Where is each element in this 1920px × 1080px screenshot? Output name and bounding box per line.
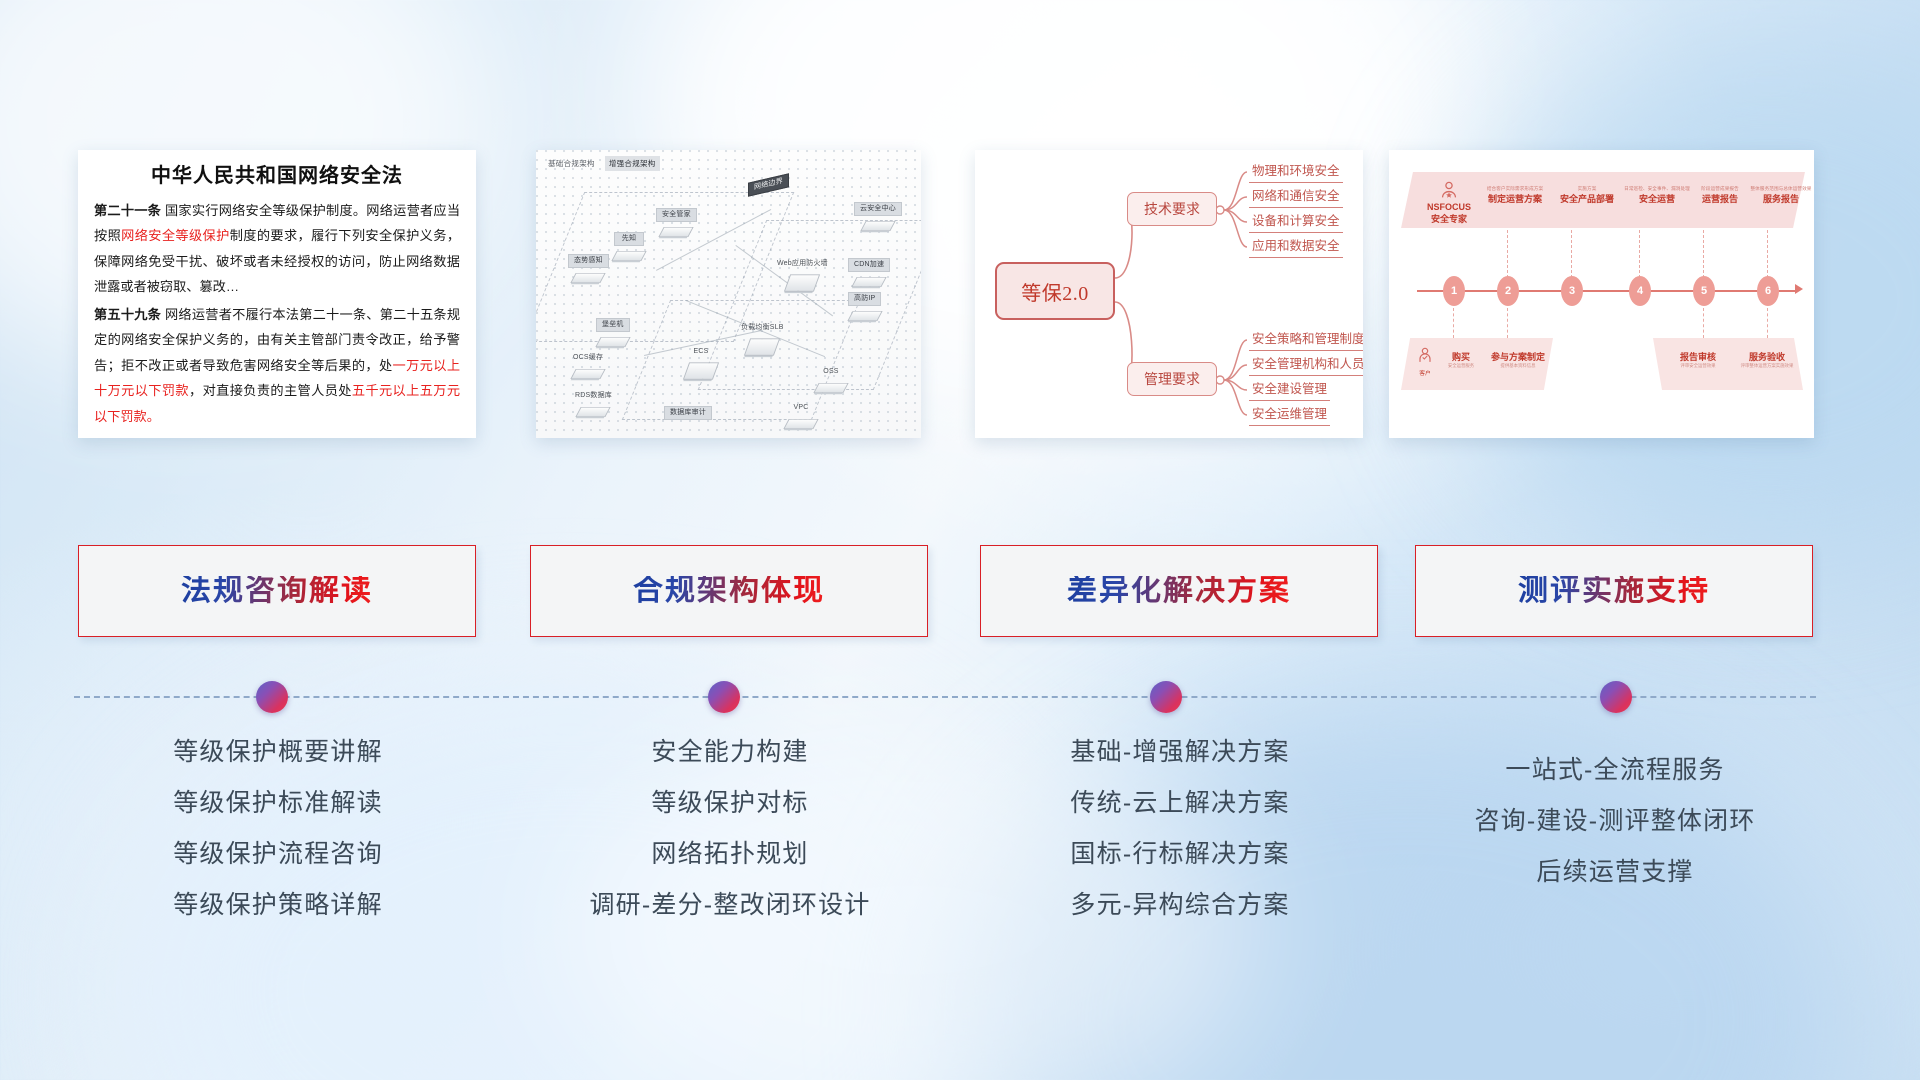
customer-label: 客户 [1407,368,1443,377]
slide-stage: 中华人民共和国网络安全法 第二十一条 国家实行网络安全等级保护制度。网络运营者应… [0,0,1920,1080]
mindmap-canvas: 等保2.0 技术要求 管理要求 物理和环境安全 网络和通信安全 设备和计算安全 … [975,150,1363,438]
list-item: 咨询-建设-测评整体闭环 [1415,809,1815,834]
topology-node-label: 先知 [614,232,644,246]
section-title-box-1[interactable]: 法规咨询解读 [78,545,476,637]
customer-step-2: 参与方案制定 提供基本资料信息 [1483,350,1553,369]
tab-enhanced-framework[interactable]: 增强合规架构 [605,156,660,171]
topology-node-security-steward: 安全管家 [656,208,697,240]
mindmap-leaf: 网络和通信安全 [1249,185,1343,208]
timeline-node-1[interactable] [256,681,288,713]
timeline-marker-2: 2 [1497,276,1519,306]
topology-node-bastion-host: 堡垒机 [596,318,630,350]
law-article-21-highlight: 网络安全等级保护 [121,228,230,243]
card-cybersecurity-law: 中华人民共和国网络安全法 第二十一条 国家实行网络安全等级保护制度。网络运营者应… [78,150,476,438]
detail-list-4: 一站式-全流程服务 咨询-建设-测评整体闭环 后续运营支撑 [1415,758,1815,911]
list-item: 等级保护概要讲解 [78,740,478,765]
topology-node-ocs: OCS缓存 [568,352,608,382]
section-title-text: 测评实施支持 [1518,576,1710,606]
customer-step-sub: 安全运营服务 [1439,363,1483,369]
list-item: 后续运营支撑 [1415,860,1815,885]
list-item: 多元-异构综合方案 [980,893,1380,918]
law-article-59-text-b: ，对直接负责的主管人员处 [189,383,352,398]
list-item: 调研-差分-整改闭环设计 [530,893,930,918]
topology-node-rds: RDS数据库 [570,390,617,420]
customer-step-sub: 评审安全运营效果 [1665,363,1731,369]
mindmap-leaf: 安全运维管理 [1249,403,1330,426]
section-title-box-4[interactable]: 测评实施支持 [1415,545,1813,637]
expert-label: NSFOCUS 安全专家 [1417,202,1481,225]
customer-step-3: 报告审核 评审安全运营效果 [1665,350,1731,369]
customer-step-4: 服务验收 评审整体运营方案实施效果 [1731,350,1803,369]
topology-node-network-boundary: 网络边界 [748,178,789,192]
timeline-node-4[interactable] [1600,681,1632,713]
server-icon [659,227,694,237]
server-icon [744,338,780,355]
mindmap-branch-management: 管理要求 [1127,362,1217,396]
list-item: 安全能力构建 [530,740,930,765]
timeline-connector [1507,230,1508,278]
customer-step-main: 服务验收 [1731,350,1803,363]
section-title-row: 法规咨询解读 合规架构体现 差异化解决方案 测评实施支持 [0,545,1920,650]
card-compliance-topology: 基础合规架构 增强合规架构 网络边界 安全管家 [536,150,921,438]
timeline-axis [1417,290,1797,292]
topology-node-label: OSS [816,366,846,378]
topology-node-label: RDS数据库 [570,390,617,402]
timeline-node-3[interactable] [1150,681,1182,713]
law-article-59: 第五十九条 网络运营者不履行本法第二十一条、第二十五条规定的网络安全保护义务的，… [94,302,460,429]
timeline-marker-1: 1 [1443,276,1465,306]
law-article-59-label: 第五十九条 [94,307,161,322]
timeline-marker-4: 4 [1629,276,1651,306]
topology-node-label: VPC [786,402,816,414]
preview-card-row: 中华人民共和国网络安全法 第二十一条 国家实行网络安全等级保护制度。网络运营者应… [0,150,1920,450]
timeline-marker-5: 5 [1693,276,1715,306]
detail-list-3: 基础-增强解决方案 传统-云上解决方案 国标-行标解决方案 多元-异构综合方案 [980,740,1380,944]
timeline-connector [1767,230,1768,278]
customer-step-main: 购买 [1439,350,1483,363]
mindmap-branch-technical: 技术要求 [1127,192,1217,226]
section-title-text: 合规架构体现 [633,576,825,606]
expert-label-line1: NSFOCUS [1417,202,1481,212]
topology-node-cdn: CDN加速 [848,258,890,290]
timeline-step-main: 服务报告 [1745,192,1814,205]
timeline-connector [1507,308,1508,338]
customer-icon: 客户 [1407,346,1443,377]
customer-step-main: 参与方案制定 [1483,350,1553,363]
section-title-box-3[interactable]: 差异化解决方案 [980,545,1378,637]
expert-label-line2: 安全专家 [1417,212,1481,225]
topology-node-db-audit: 数据库审计 [664,406,712,420]
topology-node-slb: 负载均衡SLB [736,322,789,358]
cloud-icon [851,277,886,287]
section-title-box-2[interactable]: 合规架构体现 [530,545,928,637]
timeline-connector [1453,308,1454,338]
topology-node-label: 负载均衡SLB [736,322,789,334]
storage-icon [813,383,848,393]
timeline-canvas: NSFOCUS 安全专家 结合客户实际需求形成方案 制定运营方案 实施方案 安全… [1389,150,1814,438]
cache-icon [570,369,605,379]
server-icon [611,251,646,261]
topology-node-label: 数据库审计 [664,406,712,420]
list-item: 一站式-全流程服务 [1415,758,1815,783]
list-item: 等级保护标准解读 [78,791,478,816]
topology-node-label: CDN加速 [848,258,890,272]
topology-canvas: 基础合规架构 增强合规架构 网络边界 安全管家 [536,150,921,438]
shield-icon [784,274,820,291]
cloud-icon [860,221,895,231]
server-icon [683,362,719,379]
list-item: 基础-增强解决方案 [980,740,1380,765]
shield-icon [847,311,882,321]
mindmap-leaf: 物理和环境安全 [1249,160,1343,183]
expert-icon [1421,180,1477,202]
topology-node-label: 安全管家 [656,208,697,222]
topology-node-oss: OSS [816,366,846,396]
card-service-timeline: NSFOCUS 安全专家 结合客户实际需求形成方案 制定运营方案 实施方案 安全… [1389,150,1814,438]
timeline-step-main: 制定运营方案 [1475,192,1555,205]
tab-basic-framework[interactable]: 基础合规架构 [544,156,599,171]
topology-node-waf: Web应用防火墙 [772,258,833,294]
mindmap-leaf: 安全策略和管理制度 [1249,328,1363,351]
list-item: 等级保护策略详解 [78,893,478,918]
mindmap-root-node: 等保2.0 [995,262,1115,320]
topology-node-label: 堡垒机 [596,318,630,332]
detail-list-1: 等级保护概要讲解 等级保护标准解读 等级保护流程咨询 等级保护策略详解 [78,740,478,944]
topology-node-xianzhi: 先知 [614,232,644,264]
server-icon [595,337,630,347]
network-icon [783,419,818,429]
timeline-connector [1639,230,1640,278]
detail-list-2: 安全能力构建 等级保护对标 网络拓扑规划 调研-差分-整改闭环设计 [530,740,930,944]
database-icon [576,407,611,417]
law-title: 中华人民共和国网络安全法 [94,164,460,188]
topology-node-label: OCS缓存 [568,352,608,364]
section-title-text: 差异化解决方案 [1067,576,1291,606]
timeline-connector [1571,230,1572,278]
list-item: 网络拓扑规划 [530,842,930,867]
topology-node-cloud-security-center: 云安全中心 [854,202,902,234]
mindmap-leaf: 应用和数据安全 [1249,235,1343,258]
customer-step-1: 购买 安全运营服务 [1439,350,1483,369]
topology-node-situation-awareness: 态势感知 [568,254,609,286]
topology-node-label: Web应用防火墙 [772,258,833,270]
topology-node-anti-ddos: 高防IP [848,292,881,324]
mindmap-leaf: 安全管理机构和人员 [1249,353,1363,376]
topology-tab-bar: 基础合规架构 增强合规架构 [544,156,660,171]
timeline-node-2[interactable] [708,681,740,713]
list-item: 国标-行标解决方案 [980,842,1380,867]
server-icon [571,273,606,283]
topology-node-label: 高防IP [848,292,881,306]
customer-step-sub: 提供基本资料信息 [1483,363,1553,369]
section-detail-row: 等级保护概要讲解 等级保护标准解读 等级保护流程咨询 等级保护策略详解 安全能力… [0,740,1920,980]
customer-step-sub: 评审整体运营方案实施效果 [1731,363,1803,369]
timeline-marker-6: 6 [1757,276,1779,306]
mindmap-leaf: 安全建设管理 [1249,378,1330,401]
timeline-connector [1703,230,1704,278]
topology-node-label: ECS [686,346,716,358]
timeline-dashed-axis [74,696,1816,698]
timeline-step-5: 整体服务范围与总体运营效果 服务报告 [1745,186,1814,205]
list-item: 等级保护流程咨询 [78,842,478,867]
law-article-21-label: 第二十一条 [94,203,161,218]
topology-node-label: 态势感知 [568,254,609,268]
topology-node-ecs: ECS [686,346,716,382]
topology-node-vpc: VPC [786,402,816,432]
timeline-connector [1767,308,1768,338]
list-item: 传统-云上解决方案 [980,791,1380,816]
list-item: 等级保护对标 [530,791,930,816]
customer-step-main: 报告审核 [1665,350,1731,363]
topology-node-label: 云安全中心 [854,202,902,216]
timeline-marker-3: 3 [1561,276,1583,306]
timeline-connector [1703,308,1704,338]
timeline-arrow-icon [1795,284,1803,294]
law-article-21: 第二十一条 国家实行网络安全等级保护制度。网络运营者应当按照网络安全等级保护制度… [94,198,460,300]
card-mlps-mindmap: 等保2.0 技术要求 管理要求 物理和环境安全 网络和通信安全 设备和计算安全 … [975,150,1363,438]
timeline-step-1: 结合客户实际需求形成方案 制定运营方案 [1475,186,1555,205]
mindmap-leaf: 设备和计算安全 [1249,210,1343,233]
section-title-text: 法规咨询解读 [181,576,373,606]
